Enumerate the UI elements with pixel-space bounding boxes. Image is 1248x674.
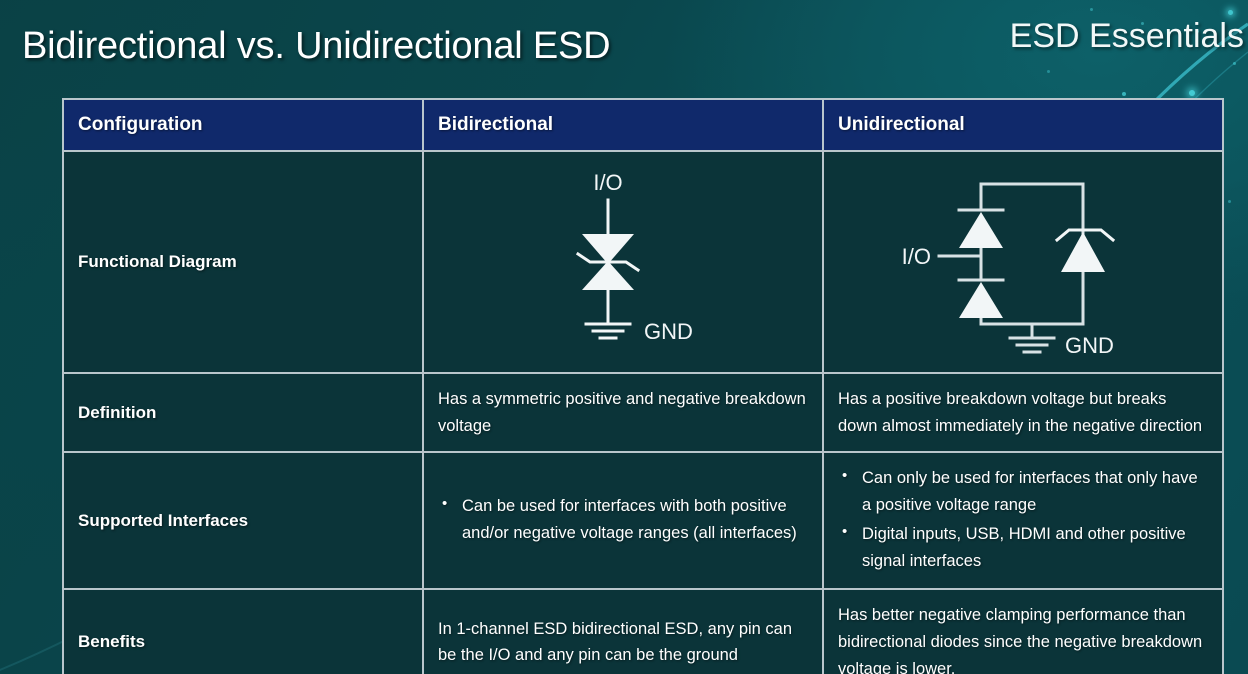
unidirectional-steering-diode-diagram: I/O GND bbox=[873, 162, 1173, 362]
table-header: Configuration Bidirectional Unidirection… bbox=[63, 99, 1223, 151]
bidirectional-gnd-label: GND bbox=[644, 319, 693, 344]
list-item: Can be used for interfaces with both pos… bbox=[438, 493, 808, 546]
bidirectional-io-label: I/O bbox=[593, 170, 622, 195]
cell-benefits-unidirectional: Has better negative clamping performance… bbox=[823, 589, 1223, 674]
row-label-benefits: Benefits bbox=[63, 589, 423, 674]
deck-label: ESD Essentials bbox=[1010, 17, 1244, 56]
cell-bidirectional-diagram: I/O GND bbox=[423, 151, 823, 373]
table-row-benefits: Benefits In 1-channel ESD bidirectional … bbox=[63, 589, 1223, 674]
list-item: Digital inputs, USB, HDMI and other posi… bbox=[838, 521, 1208, 574]
table-row-supported-interfaces: Supported Interfaces Can be used for int… bbox=[63, 452, 1223, 589]
table-row-functional-diagram: Functional Diagram bbox=[63, 151, 1223, 373]
unidirectional-io-label: I/O bbox=[902, 244, 931, 269]
cell-definition-unidirectional: Has a positive breakdown voltage but bre… bbox=[823, 373, 1223, 452]
row-label-supported-interfaces: Supported Interfaces bbox=[63, 452, 423, 589]
column-header-unidirectional: Unidirectional bbox=[823, 99, 1223, 151]
list-item: Can only be used for interfaces that onl… bbox=[838, 465, 1208, 518]
particle-glow bbox=[1228, 200, 1231, 203]
cell-supported-interfaces-bidirectional: Can be used for interfaces with both pos… bbox=[423, 452, 823, 589]
bullet-list-unidirectional: Can only be used for interfaces that onl… bbox=[838, 465, 1208, 574]
comparison-table: Configuration Bidirectional Unidirection… bbox=[62, 98, 1224, 674]
particle-glow bbox=[1122, 92, 1126, 96]
unidirectional-gnd-label: GND bbox=[1065, 333, 1114, 358]
table-body: Functional Diagram bbox=[63, 151, 1223, 674]
cell-definition-bidirectional: Has a symmetric positive and negative br… bbox=[423, 373, 823, 452]
row-label-functional-diagram: Functional Diagram bbox=[63, 151, 423, 373]
table-header-row: Configuration Bidirectional Unidirection… bbox=[63, 99, 1223, 151]
title-bar: Bidirectional vs. Unidirectional ESD ESD… bbox=[0, 0, 1248, 92]
column-header-configuration: Configuration bbox=[63, 99, 423, 151]
cell-benefits-bidirectional: In 1-channel ESD bidirectional ESD, any … bbox=[423, 589, 823, 674]
slide-background: Bidirectional vs. Unidirectional ESD ESD… bbox=[0, 0, 1248, 674]
bullet-list-bidirectional: Can be used for interfaces with both pos… bbox=[438, 493, 808, 546]
cell-unidirectional-diagram: I/O GND bbox=[823, 151, 1223, 373]
column-header-bidirectional: Bidirectional bbox=[423, 99, 823, 151]
cell-supported-interfaces-unidirectional: Can only be used for interfaces that onl… bbox=[823, 452, 1223, 589]
table-row-definition: Definition Has a symmetric positive and … bbox=[63, 373, 1223, 452]
page-title: Bidirectional vs. Unidirectional ESD bbox=[22, 25, 610, 68]
bidirectional-tvs-diode-diagram: I/O GND bbox=[498, 162, 748, 362]
row-label-definition: Definition bbox=[63, 373, 423, 452]
